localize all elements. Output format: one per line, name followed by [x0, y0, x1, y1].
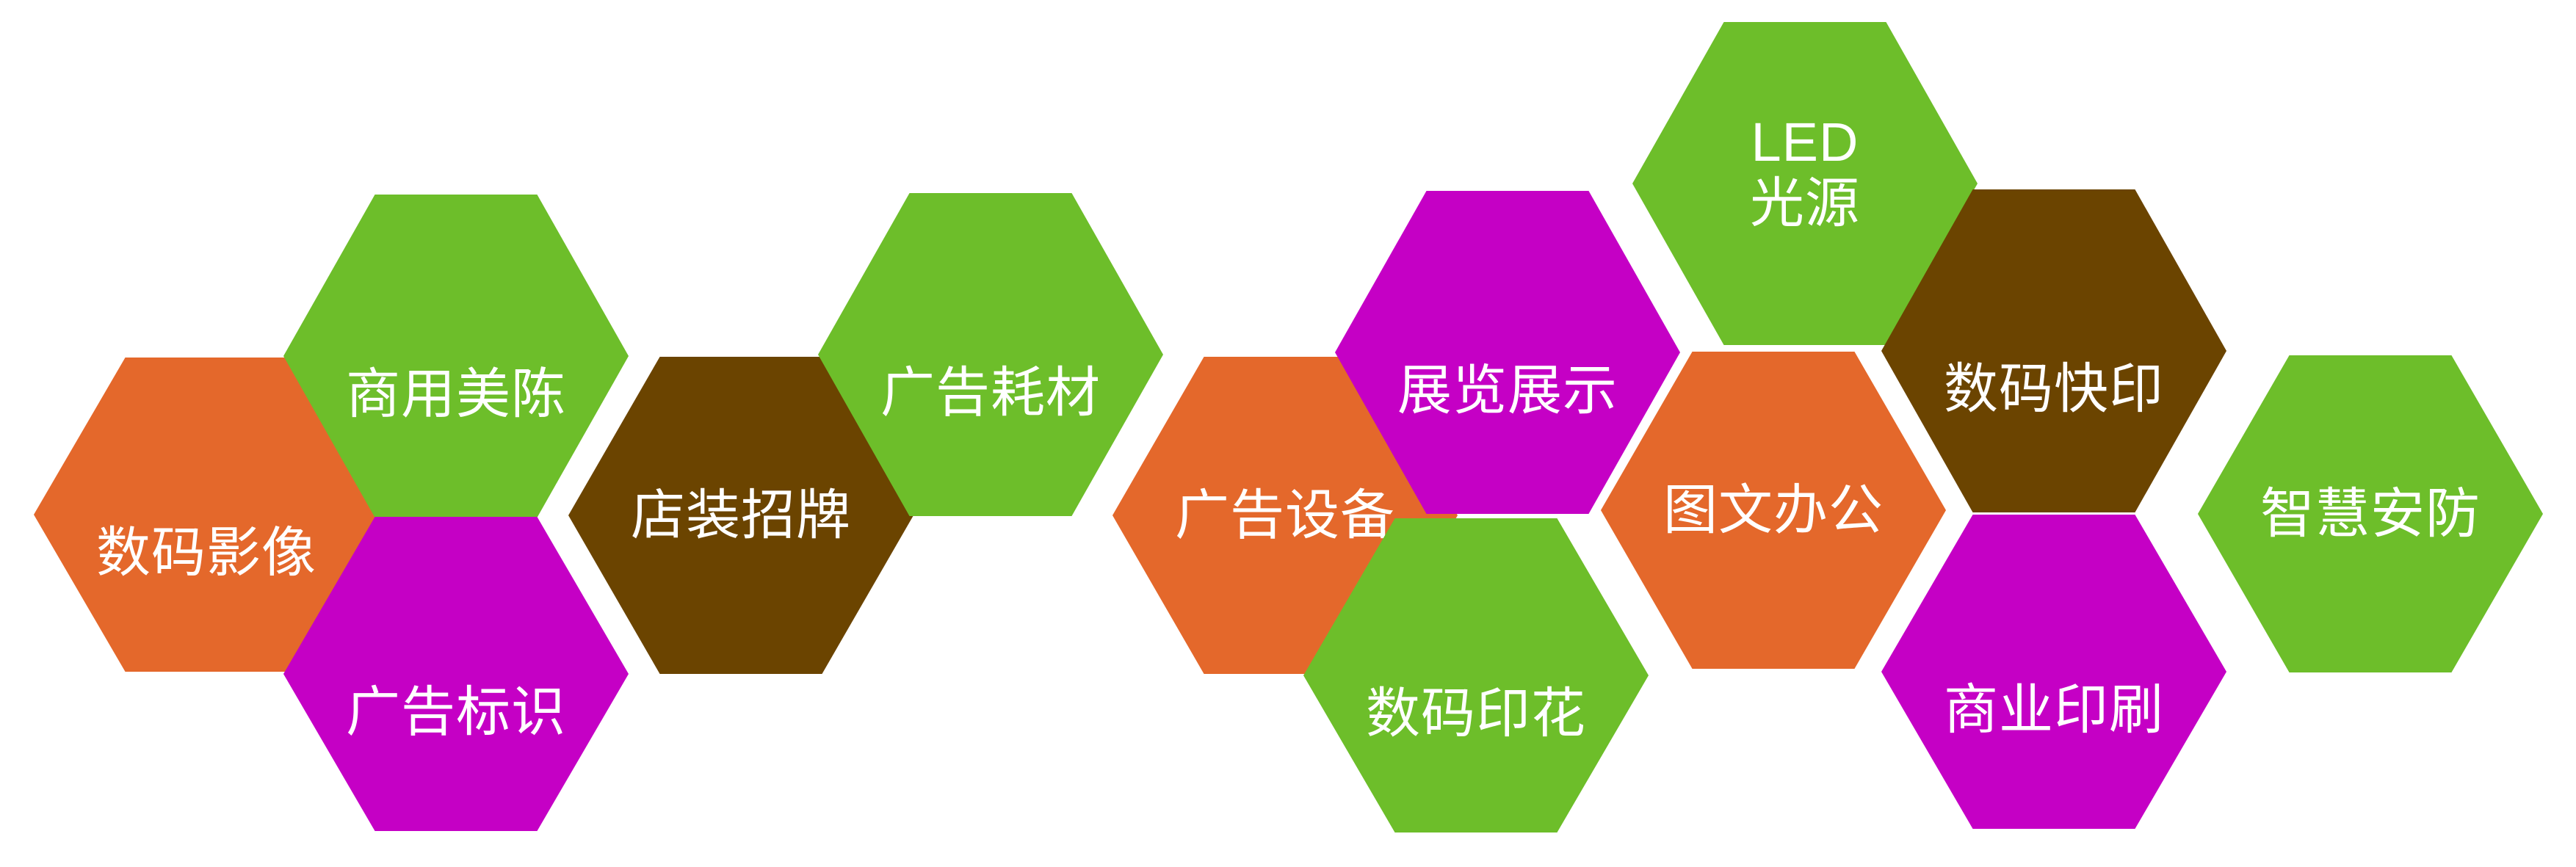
hex-label-digital-printing: 数码印花: [1361, 683, 1591, 744]
hex-label-shop-signboard: 店装招牌: [626, 485, 855, 546]
hex-label-graphic-office: 图文办公: [1659, 480, 1888, 541]
hex-label-smart-security: 智慧安防: [2256, 484, 2485, 545]
hex-cell-smart-security[interactable]: 智慧安防: [2198, 355, 2543, 672]
hex-label-ad-equipment: 广告设备: [1171, 485, 1400, 546]
hex-label-digital-quick-print: 数码快印: [1939, 359, 2168, 420]
hex-label-commercial-printing: 商业印刷: [1939, 680, 2168, 741]
hex-label-exhibition-display: 展览展示: [1393, 360, 1622, 421]
hex-label-ad-consumables: 广告耗材: [876, 363, 1105, 424]
hex-label-commercial-display: 商用美陈: [341, 364, 571, 425]
hex-cell-commercial-printing[interactable]: 商业印刷: [1881, 515, 2226, 829]
hex-label-advertising-signage: 广告标识: [341, 682, 571, 743]
hex-label-digital-imaging: 数码影像: [92, 523, 321, 584]
honeycomb-diagram: 数码影像商用美陈广告标识店装招牌广告耗材广告设备展览展示数码印花LED 光源数码…: [0, 0, 2576, 867]
hex-label-led-light-source: LED 光源: [1745, 112, 1864, 234]
